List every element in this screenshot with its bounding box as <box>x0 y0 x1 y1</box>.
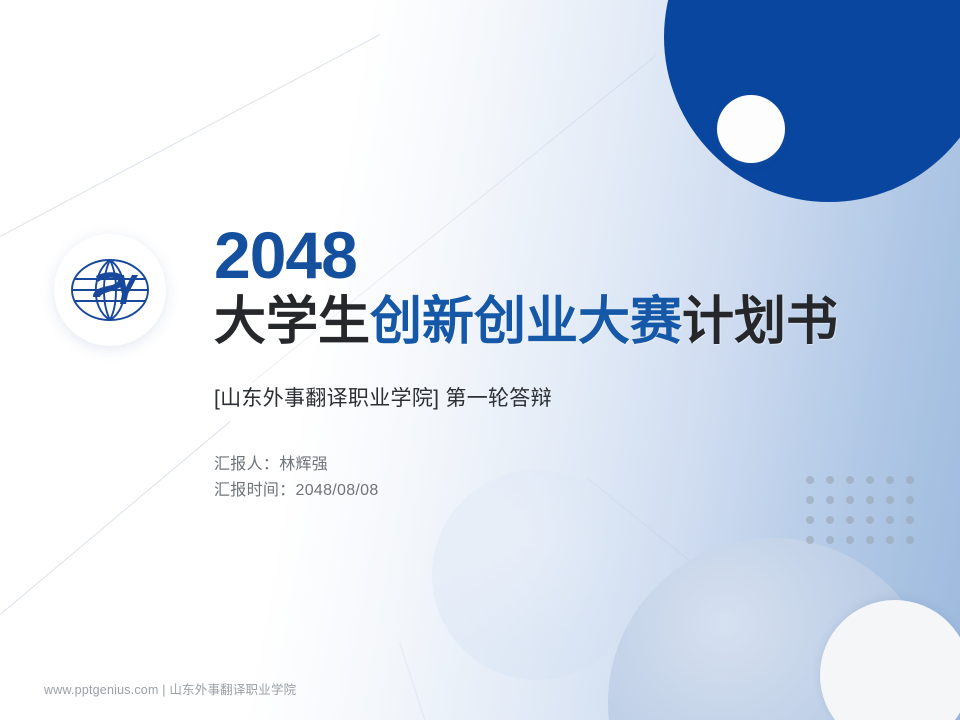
grid-dot <box>886 536 894 544</box>
title-part-1: 大学生 <box>214 293 370 351</box>
title-part-3: 计划书 <box>682 293 838 351</box>
date-line: 汇报时间：2048/08/08 <box>214 478 914 504</box>
grid-dot <box>846 516 854 524</box>
blue-circle-top-right <box>664 0 960 202</box>
title-part-2-accent: 创新创业大赛 <box>370 293 682 351</box>
grid-dot <box>886 516 894 524</box>
grid-dot <box>906 516 914 524</box>
grid-dot <box>846 536 854 544</box>
diagonal-line-upper-left <box>0 34 380 237</box>
presenter-line: 汇报人：林辉强 <box>214 452 914 478</box>
white-circle-top-right <box>717 95 785 163</box>
grid-dot <box>806 536 814 544</box>
footer-credit: www.pptgenius.com | 山东外事翻译职业学院 <box>44 679 296 698</box>
grid-dot <box>806 516 814 524</box>
grid-dot <box>866 516 874 524</box>
grid-dot <box>866 536 874 544</box>
slide-text-block: 2048 大学生创新创业大赛计划书 [山东外事翻译职业学院] 第一轮答辩 汇报人… <box>214 222 914 504</box>
grid-dot <box>906 536 914 544</box>
title-main: 大学生创新创业大赛计划书 <box>214 293 914 351</box>
presentation-meta: 汇报人：林辉强 汇报时间：2048/08/08 <box>214 452 914 505</box>
presentation-slide: 2048 大学生创新创业大赛计划书 [山东外事翻译职业学院] 第一轮答辩 汇报人… <box>0 0 960 720</box>
sy-globe-icon <box>62 242 158 338</box>
grid-dot <box>826 536 834 544</box>
title-year: 2048 <box>214 222 914 289</box>
subtitle: [山东外事翻译职业学院] 第一轮答辩 <box>214 382 914 412</box>
diagonal-line-lower-left <box>0 421 230 615</box>
university-logo <box>54 234 166 346</box>
grid-dot <box>826 516 834 524</box>
